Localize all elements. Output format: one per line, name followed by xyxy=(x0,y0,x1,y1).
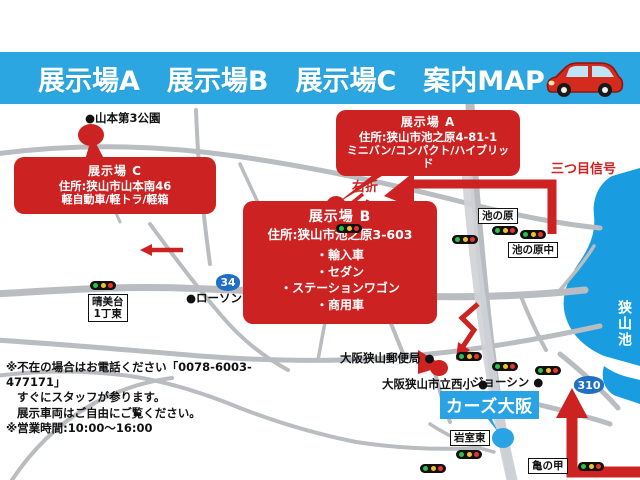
cars-osaka-dot xyxy=(492,428,514,448)
label-kamenokou: 亀の甲 xyxy=(528,458,568,474)
label-harumidai: 晴美台 1丁東 xyxy=(88,294,128,322)
signal-ikenohara-west xyxy=(452,235,478,244)
note-line-3: 展示車両はご自由にご覧ください。 xyxy=(6,406,278,421)
label-usetsu: 右折 xyxy=(352,176,378,195)
callout-b-bullets: ・輸入車 ・セダン ・ステーションワゴン ・商用車 xyxy=(249,247,431,313)
route-shield-310: 310 xyxy=(574,376,604,394)
signal-joshin xyxy=(535,366,561,375)
signal-310 xyxy=(578,462,604,471)
route-arrow-310 xyxy=(556,388,640,472)
signal-iwamuro-higashi xyxy=(456,450,482,459)
label-harumidai-line2: 1丁東 xyxy=(92,308,124,320)
signal-usetsu xyxy=(336,224,362,233)
note-line-4: ※営業時間:10:00〜16:00 xyxy=(6,421,278,436)
callout-showroom-b: 展示場 B 住所:狭山市池之原3-603 ・輸入車 ・セダン ・ステーションワゴ… xyxy=(243,201,437,324)
page-title: 展示場A 展示場B 展示場C 案内MAP xyxy=(38,59,545,98)
route-shield-34: 34 xyxy=(216,274,240,291)
sayamaike-label: 狭山池 xyxy=(614,300,634,348)
callout-b-bullet-3: ・ステーションワゴン xyxy=(249,280,431,297)
note-line-2: すぐにスタッフが参ります。 xyxy=(6,390,278,405)
route-arrow-park xyxy=(140,244,183,256)
signal-ikenohara-naka xyxy=(520,230,546,239)
page-header: 展示場A 展示場B 展示場C 案内MAP xyxy=(0,52,640,104)
callout-c-categories: 軽自動車/軽トラ/軽箱 xyxy=(20,193,210,206)
map-page: 展示場A 展示場B 展示場C 案内MAP xyxy=(0,0,640,480)
callout-showroom-c: 展示場 C 住所:狭山市山本南46 軽自動車/軽トラ/軽箱 xyxy=(14,157,216,214)
callout-b-bullet-2: ・セダン xyxy=(249,264,431,281)
callout-a-title: 展示場 A xyxy=(342,115,514,130)
label-iwamuro-higashi: 岩室東 xyxy=(450,430,490,446)
red-car-icon xyxy=(542,56,626,102)
label-cars-osaka: カーズ大阪 xyxy=(440,391,539,419)
label-ikenohara: 池の原 xyxy=(478,208,518,224)
callout-a-address: 住所:狭山市池之原4-81-1 xyxy=(342,130,514,144)
notes-block: ※不在の場合はお電話ください「0078-6003-477171」 すぐにスタッフ… xyxy=(6,360,278,436)
callout-c-address: 住所:狭山市山本南46 xyxy=(20,179,210,193)
note-line-1: ※不在の場合はお電話ください「0078-6003-477171」 xyxy=(6,360,278,390)
signal-ikenohara xyxy=(492,226,518,235)
signal-harumidai xyxy=(90,281,116,290)
signal-kamenokou xyxy=(420,464,446,473)
label-mitsume-shingou: 三つ目信号 xyxy=(551,158,616,177)
label-post-office: 大阪狭山郵便局 ● xyxy=(340,350,435,366)
label-nishi-elementary: 大阪狭山市立西小 ● xyxy=(382,376,488,392)
signal-post-office xyxy=(456,352,482,361)
callout-c-title: 展示場 C xyxy=(20,164,210,179)
label-lawson: ●ローソン xyxy=(186,290,242,306)
label-yamamoto-park: ●山本第3公園 xyxy=(85,110,161,126)
label-harumidai-line1: 晴美台 xyxy=(92,296,124,308)
callout-b-bullet-4: ・商用車 xyxy=(249,297,431,314)
signal-post-office-east xyxy=(492,362,518,371)
label-ikenohara-naka: 池の原中 xyxy=(508,242,558,258)
callout-b-bullet-1: ・輸入車 xyxy=(249,247,431,264)
